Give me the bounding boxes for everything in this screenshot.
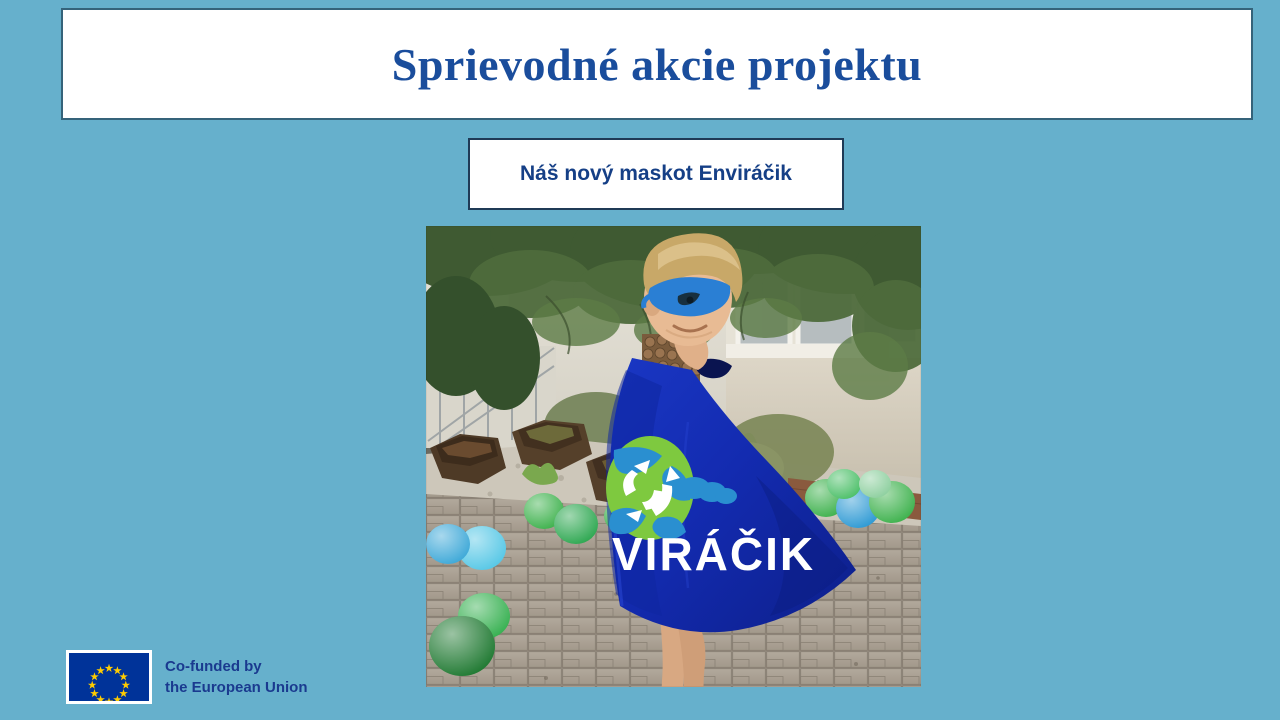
eu-caption-line2: the European Union — [165, 677, 308, 698]
subtitle-text: Náš nový maskot Enviráčik — [520, 162, 792, 186]
slide-subtitle-box: Náš nový maskot Enviráčik — [468, 138, 844, 210]
svg-text:VIRÁČIK: VIRÁČIK — [612, 528, 815, 580]
eu-flag-icon — [66, 650, 152, 704]
photo-illustration: VIRÁČIK — [426, 226, 921, 687]
eu-cofunding-logo: Co-funded by the European Union — [66, 650, 308, 704]
slide-title-box: Sprievodné akcie projektu — [61, 8, 1253, 120]
page-title: Sprievodné akcie projektu — [392, 38, 922, 91]
mascot-photo: VIRÁČIK — [426, 226, 921, 687]
eu-stars-circle — [69, 653, 149, 701]
eu-caption-line1: Co-funded by — [165, 656, 308, 677]
eu-caption: Co-funded by the European Union — [165, 656, 308, 699]
